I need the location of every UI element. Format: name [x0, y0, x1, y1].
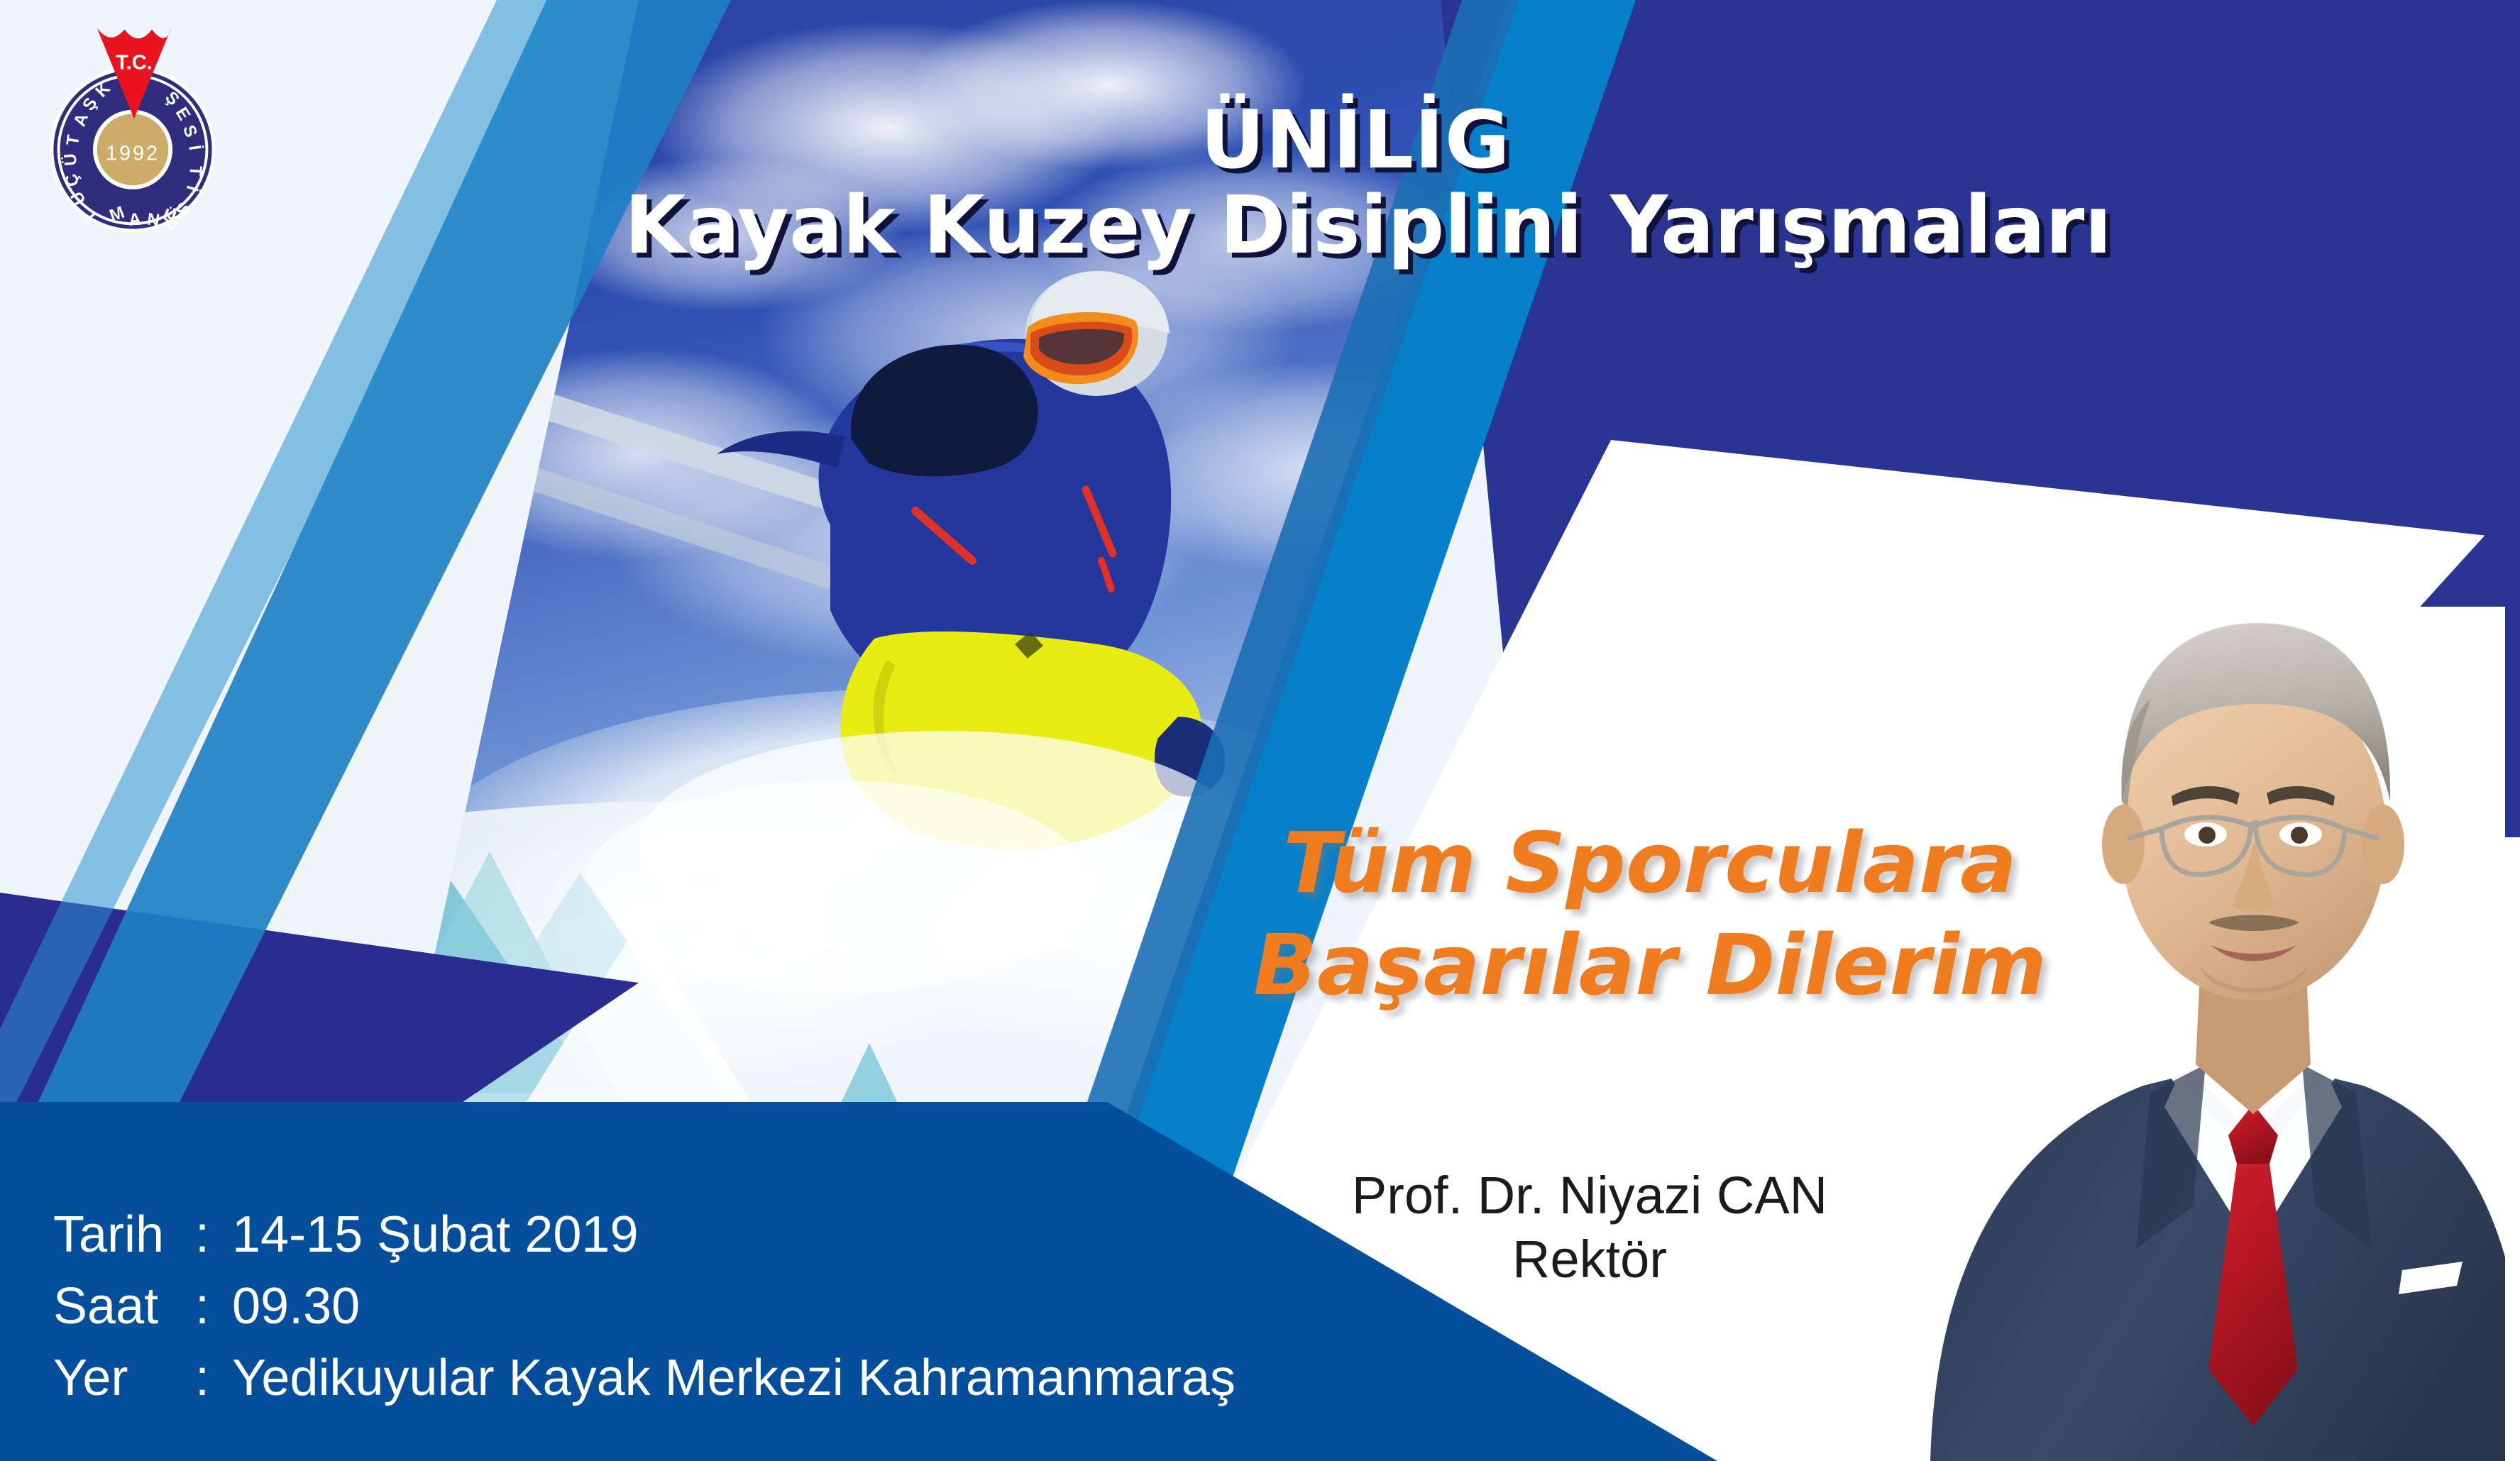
slogan-text: Tüm Sporculara Başarılar Dilerim	[1178, 812, 2122, 1017]
info-colon-date: :	[195, 1199, 232, 1271]
info-row-time: Saat : 09.30	[53, 1271, 1236, 1343]
svg-text:A: A	[128, 209, 142, 230]
info-colon-place: :	[195, 1343, 232, 1414]
info-row-place: Yer : Yedikuyular Kayak Merkezi Kahraman…	[53, 1343, 1236, 1414]
poster-canvas: 1992 K Ş A T Ü Ç Ü İ Ş E S İ T İ S R M A	[0, 0, 2520, 1461]
seal-svg: 1992 K Ş A T Ü Ç Ü İ Ş E S İ T İ S R M A	[30, 16, 236, 236]
info-value-date: 14-15 Şubat 2019	[232, 1199, 638, 1271]
info-value-place: Yedikuyular Kayak Merkezi Kahramanmaraş	[232, 1343, 1236, 1414]
svg-text:Ü: Ü	[61, 153, 81, 166]
info-colon-time: :	[195, 1271, 232, 1343]
event-info-block: Tarih : 14-15 Şubat 2019 Saat : 09.30 Ye…	[53, 1199, 1236, 1413]
seal-flag-text: T.C.	[116, 52, 153, 75]
info-label-place: Yer	[53, 1343, 195, 1414]
university-seal-logo: 1992 K Ş A T Ü Ç Ü İ Ş E S İ T İ S R M A	[30, 16, 236, 236]
slogan-line-1: Tüm Sporculara	[1178, 812, 2122, 915]
seal-year-text: 1992	[106, 142, 160, 165]
info-label-date: Tarih	[53, 1199, 195, 1271]
info-value-time: 09.30	[232, 1271, 360, 1343]
info-row-date: Tarih : 14-15 Şubat 2019	[53, 1199, 1236, 1271]
signatory-title: Rektör	[1206, 1228, 1973, 1291]
svg-text:T: T	[185, 165, 205, 177]
signature-block: Prof. Dr. Niyazi CAN Rektör	[1206, 1164, 1973, 1292]
slogan-line-2: Başarılar Dilerim	[1178, 915, 2122, 1017]
info-label-time: Saat	[53, 1271, 195, 1343]
rector-portrait	[1916, 607, 2520, 1461]
signatory-name: Prof. Dr. Niyazi CAN	[1206, 1164, 1973, 1228]
svg-text:N: N	[145, 209, 160, 230]
